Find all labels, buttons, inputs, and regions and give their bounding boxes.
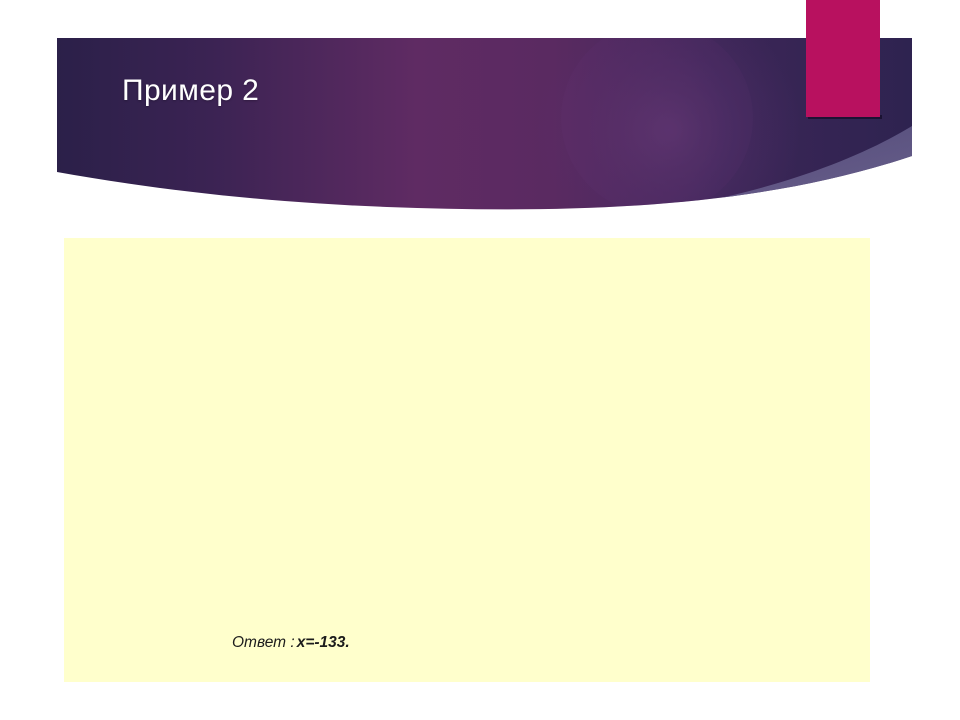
pink-accent-block <box>806 0 880 117</box>
slide-canvas: Пример 2 Решим уравнение: 7 √x+5 + 2 = 0… <box>0 0 960 720</box>
header-banner <box>57 38 912 214</box>
answer-line: Ответ :x=-133. <box>232 634 350 652</box>
page-title: Пример 2 <box>122 74 259 108</box>
header-banner-graphic <box>57 38 912 214</box>
content-panel <box>64 238 870 682</box>
answer-label: Ответ : <box>232 634 295 651</box>
answer-value: x=-133. <box>295 634 350 651</box>
